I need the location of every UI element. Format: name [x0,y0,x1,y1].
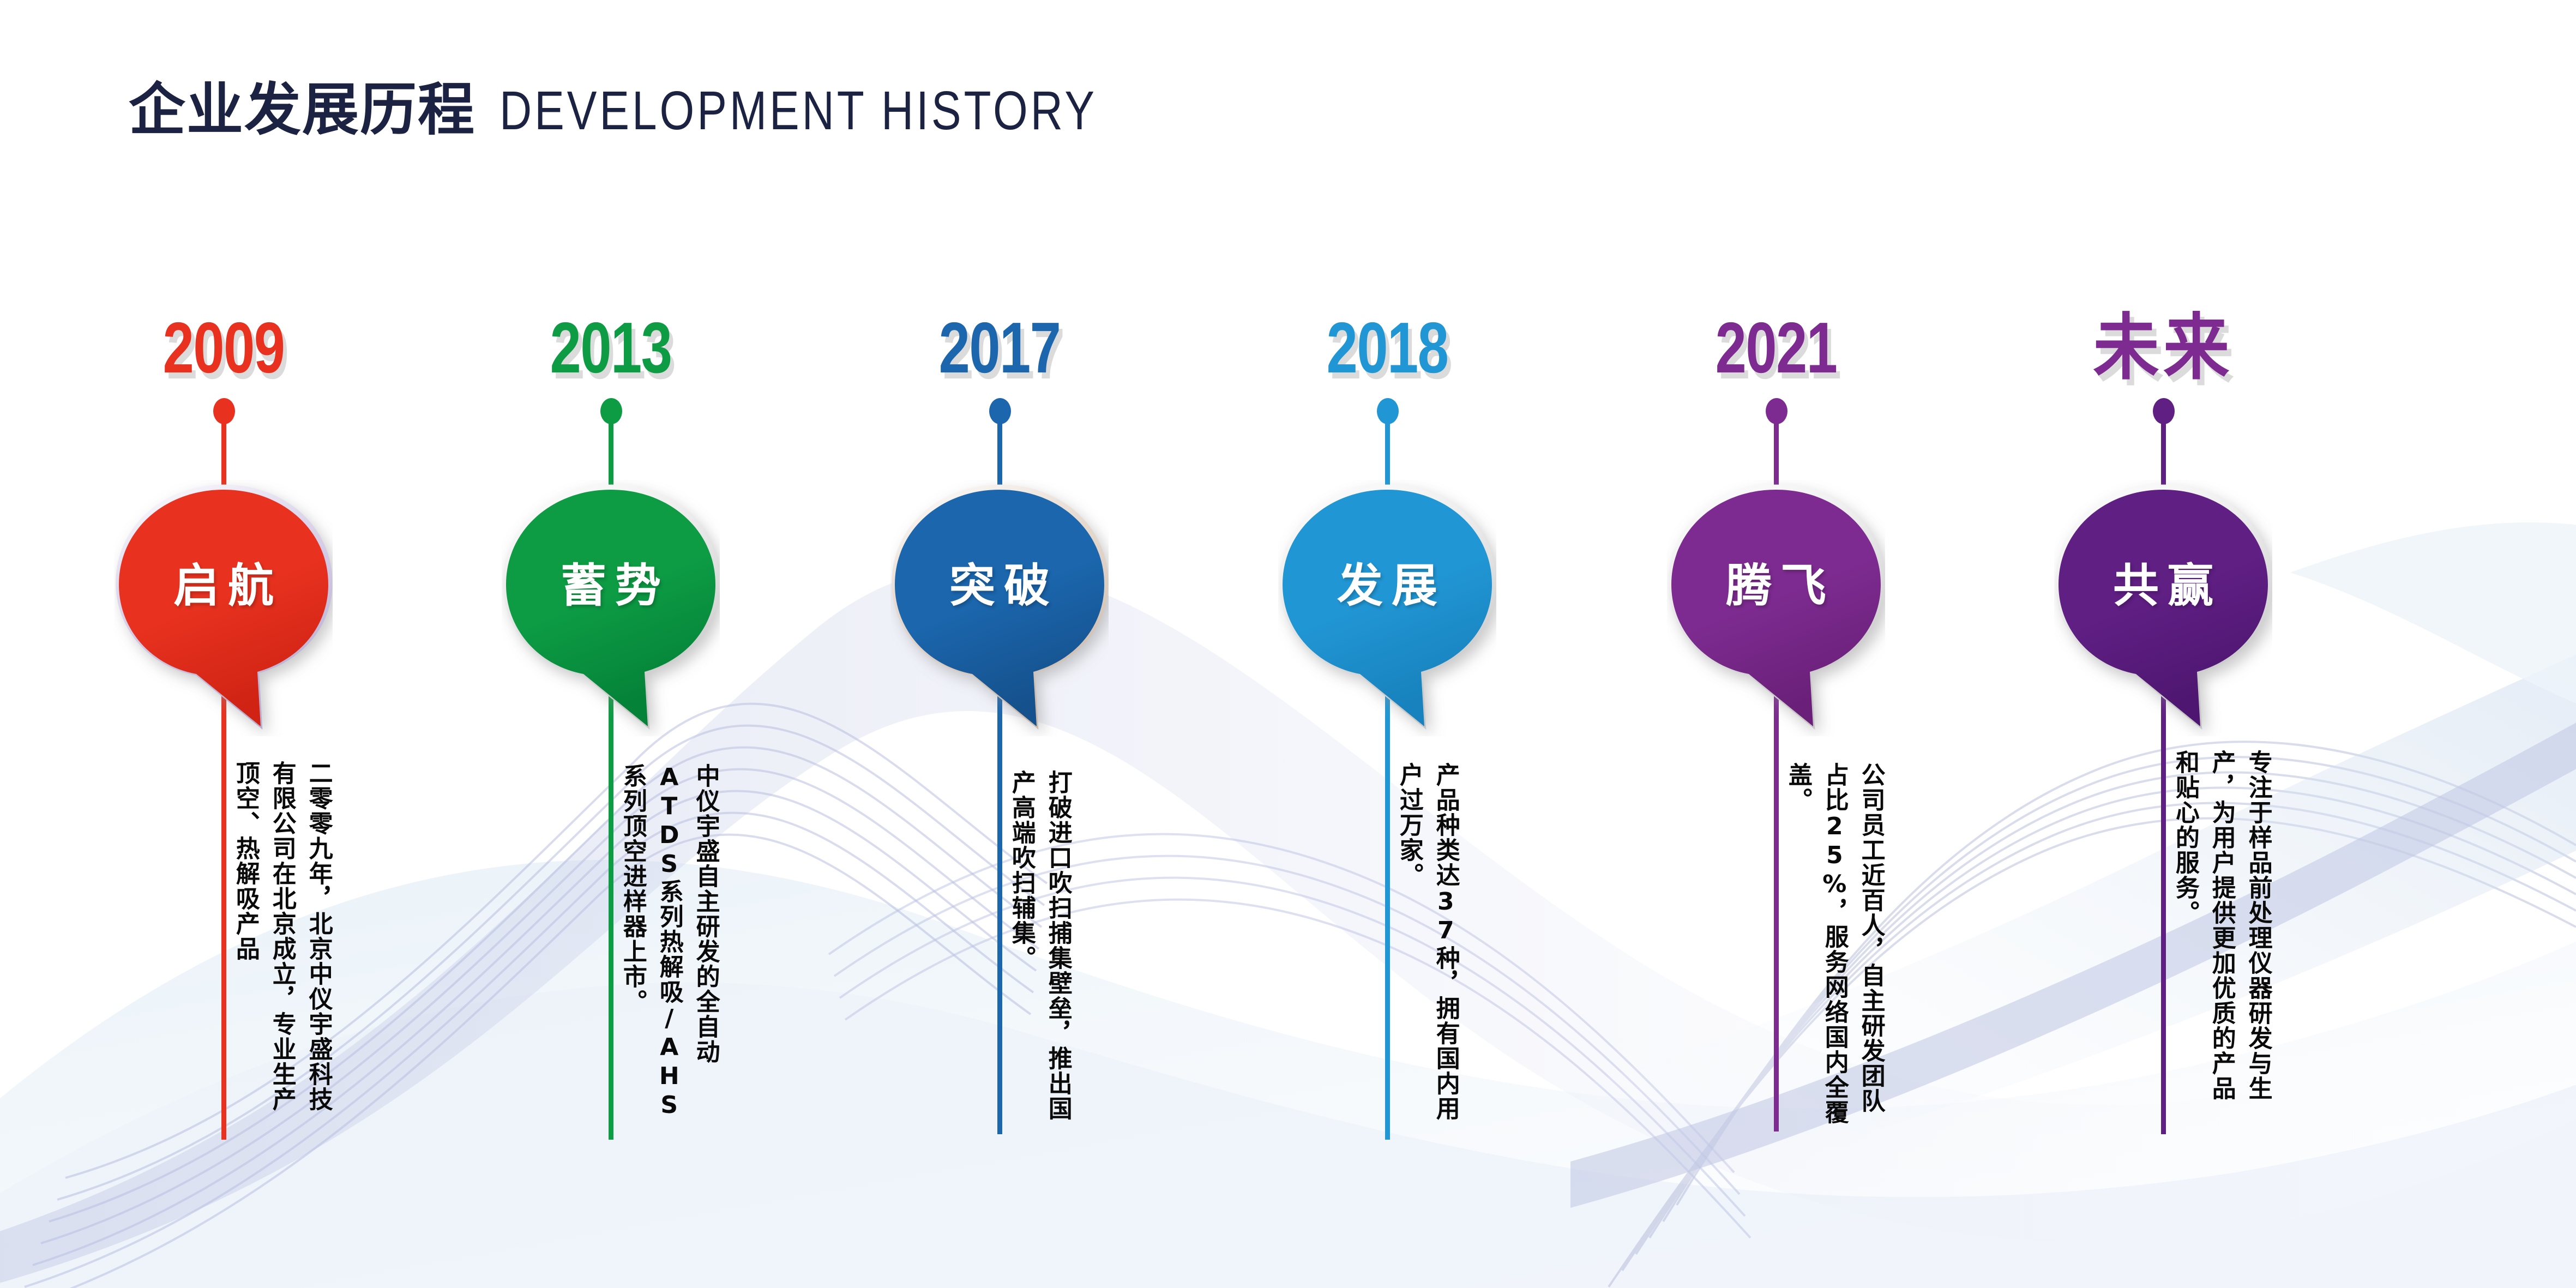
timeline-milestone: 2013蓄势中仪宇盛自主研发的全自动ATDS系列热解吸/AHS系列顶空进样器上市… [469,0,753,1288]
milestone-keyword: 启航 [115,563,333,609]
timeline-milestone: 2009启航二零零九年，北京中仪宇盛科技有限公司在北京成立，专业生产顶空、热解吸… [82,0,365,1288]
milestone-keyword: 突破 [890,563,1109,609]
page-title-cn: 企业发展历程 [129,82,476,139]
milestone-bubble[interactable]: 共赢 [2054,480,2272,736]
milestone-description: 产品种类达37种，拥有国内用户过万家。 [1391,762,1464,1129]
page-header: 企业发展历程 DEVELOPMENT HISTORY [129,82,1229,139]
milestone-description: 二零零九年，北京中仪宇盛科技有限公司在北京成立，专业生产顶空、热解吸产品 [227,761,336,1127]
milestone-stem-dot [600,398,622,424]
milestone-keyword: 蓄势 [502,563,720,609]
milestone-description: 中仪宇盛自主研发的全自动ATDS系列热解吸/AHS系列顶空进样器上市。 [614,763,724,1130]
milestone-keyword: 共赢 [2054,563,2272,609]
milestone-stem-dot [989,398,1011,424]
milestone-bubble[interactable]: 腾飞 [1667,480,1885,736]
milestone-description: 专注于样品前处理仪器研发与生产，为用户提供更加优质的产品和贴心的服务。 [2166,750,2276,1116]
milestone-year: 2021 [1665,312,1887,384]
timeline: 2009启航二零零九年，北京中仪宇盛科技有限公司在北京成立，专业生产顶空、热解吸… [0,0,2576,1288]
milestone-year: 2013 [500,312,721,384]
milestone-keyword: 腾飞 [1667,563,1885,609]
milestone-bubble[interactable]: 蓄势 [502,480,720,736]
timeline-milestone: 2018发展产品种类达37种，拥有国内用户过万家。 [1245,0,1529,1288]
milestone-bubble[interactable]: 突破 [890,480,1109,736]
page-title-en: DEVELOPMENT HISTORY [499,83,1097,138]
timeline-milestone: 未来共赢专注于样品前处理仪器研发与生产，为用户提供更加优质的产品和贴心的服务。 [2021,0,2305,1288]
milestone-description: 公司员工近百人，自主研发团队占比25%，服务网络国内全覆盖。 [1779,762,1889,1129]
milestone-bubble[interactable]: 发展 [1278,480,1496,736]
milestone-year: 2018 [1277,312,1498,384]
timeline-milestone: 2017突破打破进口吹扫捕集壁垒，推出国产高端吹扫辅集。 [858,0,1141,1288]
milestone-stem-dot [213,398,235,424]
milestone-stem-dot [1766,398,1787,424]
milestone-year: 未来 [2033,312,2294,384]
milestone-year: 2017 [889,312,1110,384]
milestone-bubble[interactable]: 启航 [115,480,333,736]
milestone-stem-dot [1377,398,1399,424]
milestone-keyword: 发展 [1278,563,1496,609]
milestone-stem-dot [2153,398,2175,424]
timeline-milestone: 2021腾飞公司员工近百人，自主研发团队占比25%，服务网络国内全覆盖。 [1634,0,1918,1288]
milestone-description: 打破进口吹扫捕集壁垒，推出国产高端吹扫辅集。 [1003,770,1076,1136]
milestone-year: 2009 [113,312,334,384]
